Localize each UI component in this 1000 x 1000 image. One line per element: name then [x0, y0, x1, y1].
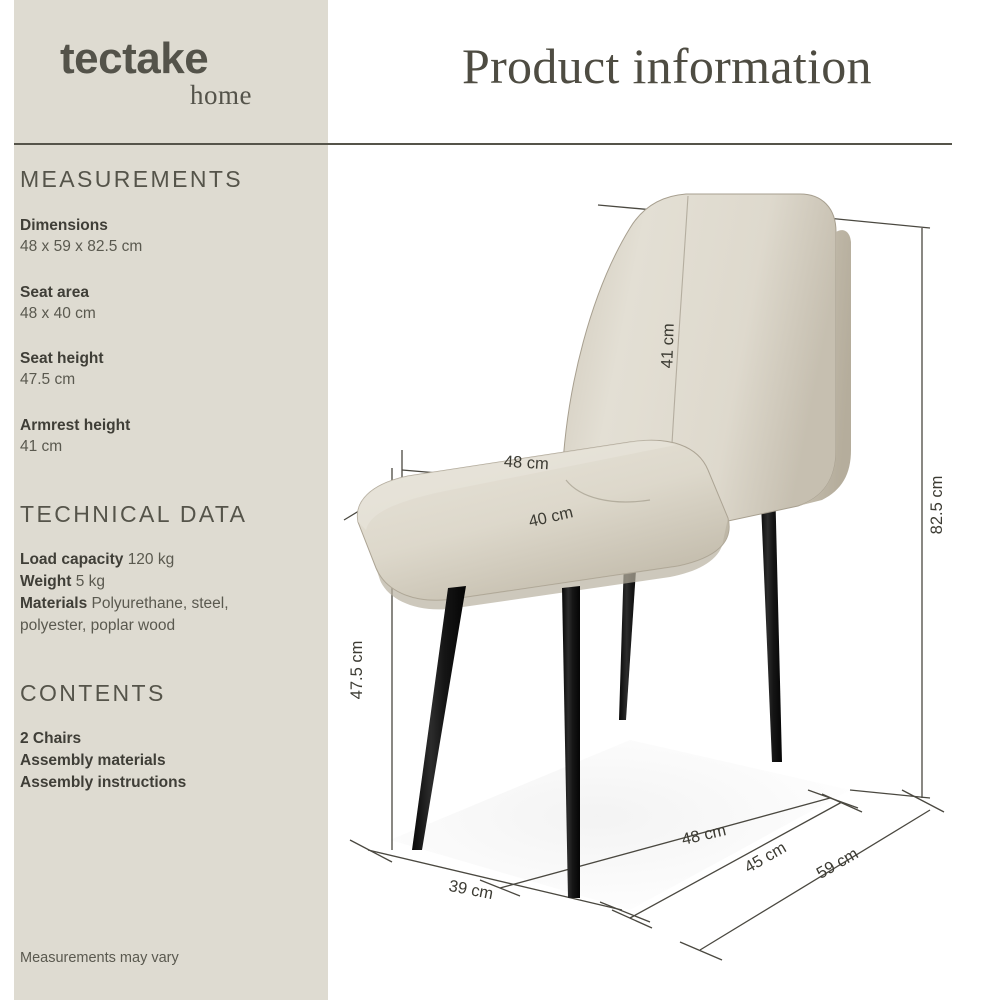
contents-list: 2 Chairs Assembly materials Assembly ins…	[20, 728, 310, 794]
measure-label: Dimensions	[20, 215, 310, 236]
measure-item-seat-height: Seat height 47.5 cm	[20, 348, 310, 390]
list-item: Assembly instructions	[20, 772, 310, 794]
dim-label-backrest-height: 41 cm	[658, 323, 678, 369]
sidebar-panel	[14, 0, 328, 1000]
measure-label: Seat height	[20, 348, 310, 369]
measure-value: 48 x 40 cm	[20, 303, 310, 324]
footnote-measurements-may-vary: Measurements may vary	[20, 950, 179, 966]
measure-label: Armrest height	[20, 415, 310, 436]
chair-dimension-diagram: 41 cm 48 cm 40 cm 47.5 cm 82.5 cm 39 cm …	[330, 150, 1000, 1000]
technical-row-load-capacity: Load capacity 120 kg	[20, 549, 310, 571]
dim-label-seat-height: 47.5 cm	[348, 641, 366, 700]
technical-value: 120 kg	[128, 551, 175, 568]
header-divider	[14, 143, 952, 145]
measure-value: 48 x 59 x 82.5 cm	[20, 236, 310, 257]
page-title: Product information	[462, 36, 872, 96]
list-item: Assembly materials	[20, 750, 310, 772]
chair-leg-front-left	[412, 586, 466, 850]
brand-sub: home	[60, 80, 252, 110]
measure-item-dimensions: Dimensions 48 x 59 x 82.5 cm	[20, 215, 310, 257]
dim-label-total-depth: 59 cm	[814, 845, 862, 883]
technical-label: Weight	[20, 573, 71, 590]
brand-logo: tectake home	[60, 36, 310, 110]
measure-value: 41 cm	[20, 436, 310, 457]
measure-label: Seat area	[20, 282, 310, 303]
technical-data-list: Load capacity 120 kg Weight 5 kg Materia…	[20, 549, 310, 637]
technical-value: 5 kg	[76, 573, 105, 590]
section-heading-measurements: MEASUREMENTS	[20, 166, 243, 193]
technical-label: Load capacity	[20, 551, 123, 568]
section-heading-contents: CONTENTS	[20, 680, 166, 707]
dim-label-seat-width: 48 cm	[503, 453, 549, 474]
dim-label-total-height: 82.5 cm	[928, 476, 946, 535]
list-item: 2 Chairs	[20, 728, 310, 750]
technical-label: Materials	[20, 595, 87, 612]
section-heading-technical-data: TECHNICAL DATA	[20, 501, 247, 528]
technical-value: Polyurethane, steel,	[92, 595, 229, 612]
brand-name: tectake	[60, 36, 310, 82]
technical-row-materials-cont: polyester, poplar wood	[20, 615, 310, 637]
product-information-sheet: tectake home Product information MEASURE…	[0, 0, 1000, 1000]
technical-row-weight: Weight 5 kg	[20, 571, 310, 593]
measure-value: 47.5 cm	[20, 369, 310, 390]
chair-leg-rear-right	[760, 480, 782, 762]
measure-item-armrest-height: Armrest height 41 cm	[20, 415, 310, 457]
measure-item-seat-area: Seat area 48 x 40 cm	[20, 282, 310, 324]
technical-row-materials: Materials Polyurethane, steel,	[20, 593, 310, 615]
technical-value: polyester, poplar wood	[20, 617, 175, 634]
dim-label-base-front-width: 39 cm	[447, 877, 495, 903]
